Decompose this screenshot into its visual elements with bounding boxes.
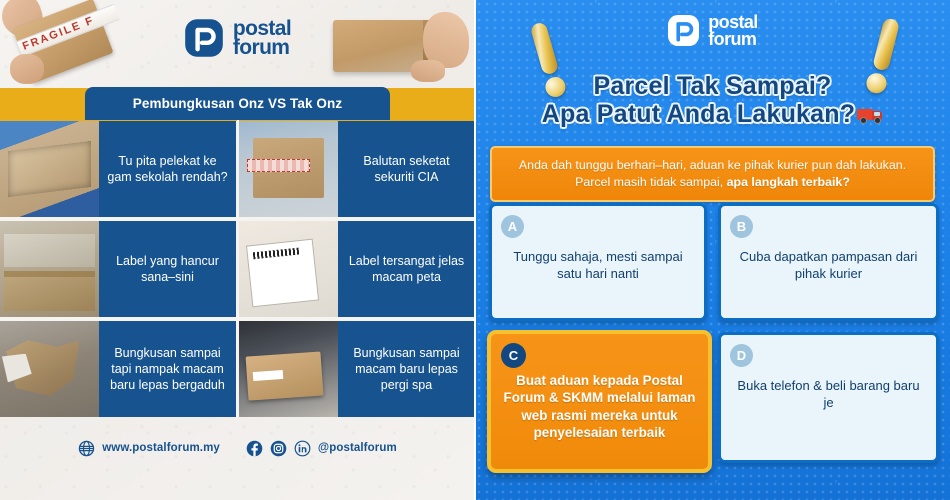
caption-good-1: Balutan seketat sekuriti CIA [346,153,467,185]
cell-bad-2: Label yang hancur sana–sini [0,221,236,317]
right-panel-quiz: postal forum Parcel Tak Sampai? Apa Patu… [475,0,950,500]
option-d-text: Buka telefon & beli barang baru je [731,377,926,412]
delivery-truck-icon [857,107,883,124]
caption-bad-2: Label yang hancur sana–sini [107,253,228,285]
social-handle: @postalforum [318,442,397,454]
caption-bad-3: Bungkusan sampai tapi nampak macam baru … [107,345,228,393]
table-row: Label yang hancur sana–sini Label tersan… [0,221,475,317]
infographic-stage: FRAGILE F postal forum [0,0,950,500]
option-c-card-selected[interactable]: C Buat aduan kepada Postal Forum & SKMM … [487,330,712,473]
title-line-1: Parcel Tak Sampai? [475,72,950,100]
title-line-2: Apa Patut Anda Lakukan? [542,100,855,128]
caption-good-2: Label tersangat jelas macam peta [346,253,467,285]
comparison-banner: Pembungkusan Onz VS Tak Onz [85,87,390,120]
option-c-badge: C [501,343,526,368]
question-highlight: apa langkah terbaik? [727,175,850,189]
cell-good-3: Bungkusan sampai macam baru lepas pergi … [236,321,475,417]
comparison-banner-title: Pembungkusan Onz VS Tak Onz [133,96,343,111]
social-group[interactable]: @postalforum [246,440,397,457]
option-b-card[interactable]: B Cuba dapatkan pampasan dari pihak kuri… [718,203,939,321]
left-panel-packaging-comparison: FRAGILE F postal forum [0,0,475,500]
page-title: Parcel Tak Sampai? Apa Patut Anda Lakuka… [475,72,950,128]
hands-taping-box-photo [239,121,338,217]
option-b-text: Cuba dapatkan pampasan dari pihak kurier [731,248,926,283]
cell-good-1: Balutan seketat sekuriti CIA [236,121,475,217]
table-row: Bungkusan sampai tapi nampak macam baru … [0,321,475,417]
panel-divider [474,0,476,500]
postal-forum-p-logo-icon [184,18,224,58]
postal-forum-p-logo-icon [667,14,700,47]
cell-bad-3: Bungkusan sampai tapi nampak macam baru … [0,321,236,417]
website-group[interactable]: www.postalforum.my [78,440,220,457]
option-d-badge: D [730,344,753,367]
logo-text-line2: forum [233,38,291,57]
option-b-badge: B [730,215,753,238]
title-line-2-wrap: Apa Patut Anda Lakukan? [475,100,950,128]
cell-bad-1: Tu pita pelekat ke gam sekolah rendah? [0,121,236,217]
facebook-icon[interactable] [246,440,263,457]
option-c-text: Buat aduan kepada Postal Forum & SKMM me… [501,372,698,442]
torn-open-parcel-photo [0,321,99,417]
option-a-card[interactable]: A Tunggu sahaja, mesti sampai satu hari … [489,203,707,321]
comparison-grid: Tu pita pelekat ke gam sekolah rendah? B… [0,121,475,417]
damaged-flat-carton-photo [0,121,99,217]
caption-good-3: Bungkusan sampai macam baru lepas pergi … [346,345,467,393]
hands-holding-labelled-box-photo [239,221,338,317]
box-loaded-in-car-photo [239,321,338,417]
question-banner: Anda dah tunggu berhari–hari, aduan ke p… [490,146,935,202]
postal-forum-logo: postal forum [475,14,950,47]
website-url: www.postalforum.my [102,442,220,454]
cell-good-2: Label tersangat jelas macam peta [236,221,475,317]
option-d-card[interactable]: D Buka telefon & beli barang baru je [718,332,939,463]
option-a-text: Tunggu sahaja, mesti sampai satu hari na… [502,248,694,283]
instagram-icon[interactable] [270,440,287,457]
caption-bad-1: Tu pita pelekat ke gam sekolah rendah? [107,153,228,185]
logo-text-line2: forum [708,31,757,48]
crushed-wrapped-parcel-photo [0,221,99,317]
left-footer: www.postalforum.my [0,417,475,479]
table-row: Tu pita pelekat ke gam sekolah rendah? B… [0,121,475,217]
postal-forum-logo: postal forum [0,18,475,58]
left-header: FRAGILE F postal forum [0,0,475,88]
globe-icon [78,440,95,457]
linkedin-icon[interactable] [294,440,311,457]
option-a-badge: A [501,215,524,238]
